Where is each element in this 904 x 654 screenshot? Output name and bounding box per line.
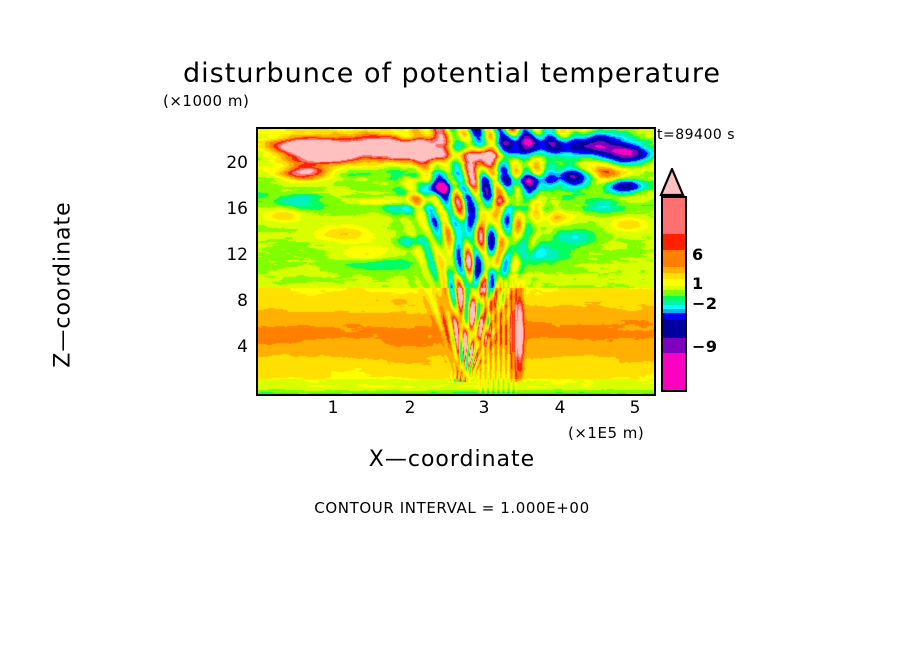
page-title: disturbunce of potential temperature [0,58,904,89]
y-tick-label: 16 [208,199,248,219]
colorbar-extend-arrow-icon [659,168,685,196]
y-tick-label: 20 [208,153,248,173]
contour-plot-area[interactable] [256,127,656,396]
x-tick-label: 2 [395,398,425,418]
y-tick-label: 8 [208,291,248,311]
colorbar-tick-label: 1 [692,274,704,293]
x-tick-label: 3 [469,398,499,418]
y-tick-label: 4 [208,337,248,357]
x-units-label: (×1E5 m) [568,424,644,442]
x-tick-label: 4 [545,398,575,418]
x-tick-label: 1 [318,398,348,418]
contour-field [258,129,654,394]
z-units-label: (×1000 m) [163,92,249,110]
colorbar-tick-label: −2 [692,294,718,313]
colorbar-band [663,198,685,234]
colorbar-band [663,353,685,390]
time-label: t=89400 s [657,127,735,143]
colorbar-band [663,338,685,352]
contour-interval-note: CONTOUR INTERVAL = 1.000E+00 [0,499,904,517]
colorbar-tick-label: 6 [692,245,704,264]
x-tick-label: 5 [620,398,650,418]
x-axis-title: X—coordinate [0,447,904,472]
colorbar[interactable] [661,196,687,392]
y-tick-label: 12 [208,245,248,265]
colorbar-tick-label: −9 [692,337,718,356]
colorbar-band [663,234,685,249]
colorbar-band [663,250,685,267]
colorbar-band [663,319,685,338]
y-axis-title: Z—coordinate [51,175,76,395]
